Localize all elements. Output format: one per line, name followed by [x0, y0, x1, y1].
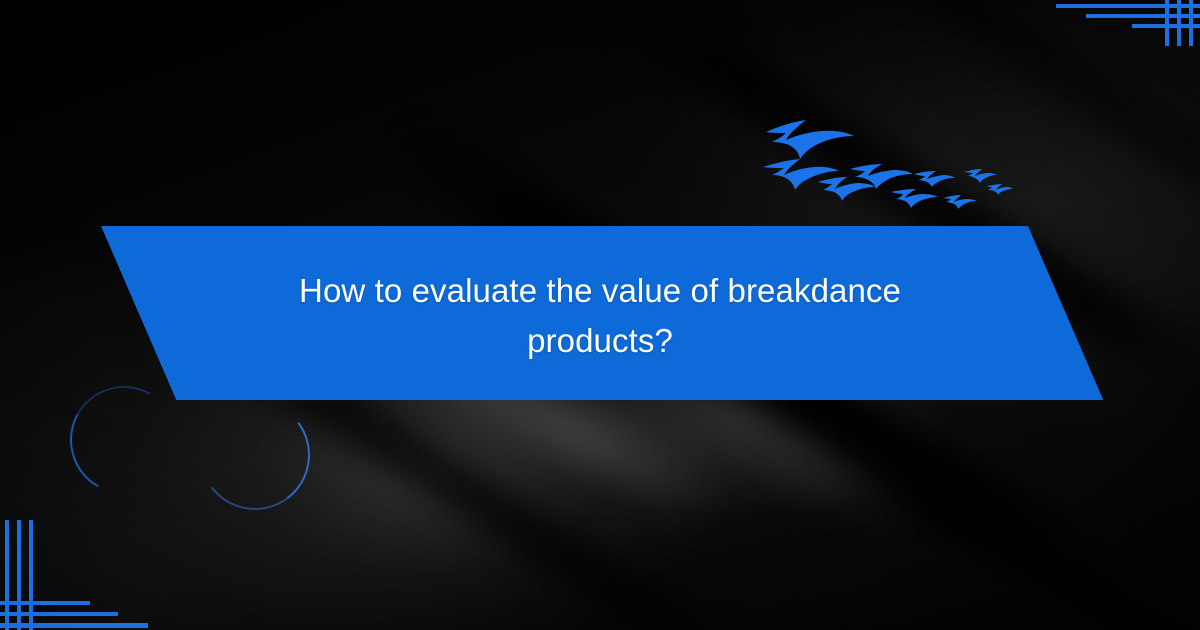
decor-line-vertical [1177, 0, 1181, 46]
decor-line-vertical [17, 520, 21, 630]
decor-line-horizontal [0, 623, 148, 628]
banner-canvas: How to evaluate the value of breakdance … [0, 0, 1200, 630]
decor-line-vertical [5, 520, 9, 630]
decor-line-horizontal [0, 601, 90, 605]
decor-line-vertical [29, 520, 33, 630]
banner-text-block: How to evaluate the value of breakdance … [250, 226, 950, 400]
decor-line-vertical [1189, 0, 1193, 46]
decor-line-horizontal [1086, 14, 1200, 18]
headline-banner: How to evaluate the value of breakdance … [0, 226, 1200, 400]
page-title: How to evaluate the value of breakdance … [255, 266, 945, 366]
decor-line-vertical [1165, 0, 1169, 46]
